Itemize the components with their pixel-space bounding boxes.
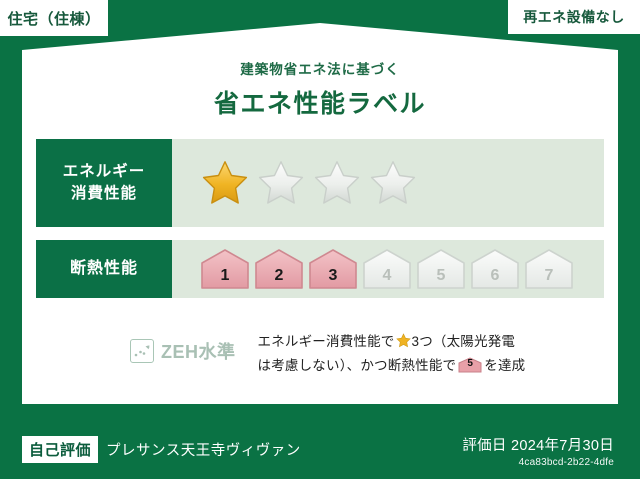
housing-type-badge: 住宅（住棟） (0, 0, 108, 36)
insulation-level-label: 6 (470, 267, 520, 285)
footer-left: 自己評価 プレサンス天王寺ヴィヴァン (22, 436, 301, 463)
insulation-performance-body: 1234567 (172, 240, 604, 298)
renewable-energy-badge: 再エネ設備なし (508, 0, 640, 34)
evaluation-id: 4ca83bcd-2b22-4dfe (462, 457, 614, 468)
energy-performance-head: エネルギー 消費性能 (36, 139, 172, 227)
insulation-level-label: 1 (200, 267, 250, 285)
zeh-desc-text-star-count: 3つ（太陽光発電 (412, 334, 516, 349)
insulation-level-chip: 7 (524, 248, 574, 290)
inline-chip-label: 5 (458, 355, 482, 373)
insulation-level-label: 4 (362, 267, 412, 285)
star-rating (172, 159, 418, 207)
zeh-section: ZEH水準 エネルギー消費性能で3つ（太陽光発電 は考慮しない）、かつ断熱性能で… (36, 330, 604, 378)
housing-type-badge-label: 住宅（住棟） (7, 8, 100, 29)
zeh-desc-text-c: を達成 (484, 358, 525, 373)
zeh-desc-text-b: は考慮しない）、かつ断熱性能で (258, 358, 457, 373)
evaluation-date: 評価日 2024年7月30日 (462, 434, 614, 455)
renewable-energy-badge-label: 再エネ設備なし (523, 7, 625, 27)
insulation-level-scale: 1234567 (172, 248, 574, 290)
insulation-level-chip: 1 (200, 248, 250, 290)
insulation-level-label: 2 (254, 267, 304, 285)
insulation-level-label: 5 (416, 267, 466, 285)
energy-performance-label: 住宅（住棟） 再エネ設備なし 建築物省エネ法に基づく 省エネ性能ラベル エネルギ… (0, 0, 640, 479)
zeh-chart-icon (130, 339, 154, 363)
insulation-performance-head-label: 断熱性能 (70, 257, 138, 280)
energy-performance-head-line2: 消費性能 (71, 183, 137, 205)
label-footer: 自己評価 プレサンス天王寺ヴィヴァン 評価日 2024年7月30日 4ca83b… (0, 404, 640, 479)
insulation-performance-head: 断熱性能 (36, 240, 172, 298)
energy-performance-body (172, 139, 604, 227)
insulation-level-chip: 6 (470, 248, 520, 290)
star-empty-icon (368, 159, 418, 207)
footer-right: 評価日 2024年7月30日 4ca83bcd-2b22-4dfe (462, 434, 614, 468)
insulation-level-label: 7 (524, 267, 574, 285)
self-evaluation-badge: 自己評価 (22, 436, 98, 463)
label-title: 建築物省エネ法に基づく 省エネ性能ラベル (0, 58, 640, 120)
insulation-performance-row: 断熱性能 1234567 (36, 240, 604, 298)
insulation-level-label: 3 (308, 267, 358, 285)
zeh-label: ZEH水準 (161, 338, 236, 364)
title-subtitle: 建築物省エネ法に基づく (0, 58, 640, 78)
energy-performance-head-line1: エネルギー (63, 161, 146, 183)
property-name: プレサンス天王寺ヴィヴァン (106, 439, 301, 460)
insulation-level-chip: 3 (308, 248, 358, 290)
insulation-level-chip: 2 (254, 248, 304, 290)
title-main: 省エネ性能ラベル (0, 84, 640, 120)
insulation-level-chip: 5 (416, 248, 466, 290)
zeh-description-line1: エネルギー消費性能で3つ（太陽光発電 (258, 330, 526, 354)
star-empty-icon (312, 159, 362, 207)
star-empty-icon (256, 159, 306, 207)
zeh-description-line2: は考慮しない）、かつ断熱性能で5を達成 (258, 354, 526, 378)
star-filled-icon (200, 159, 250, 207)
inline-insulation-chip: 5 (458, 357, 482, 373)
zeh-description: エネルギー消費性能で3つ（太陽光発電 は考慮しない）、かつ断熱性能で5を達成 (258, 330, 526, 378)
zeh-mark: ZEH水準 (36, 330, 236, 364)
inline-star-icon (396, 333, 411, 348)
energy-performance-row: エネルギー 消費性能 (36, 139, 604, 227)
zeh-desc-text-a: エネルギー消費性能で (258, 334, 395, 349)
insulation-level-chip: 4 (362, 248, 412, 290)
